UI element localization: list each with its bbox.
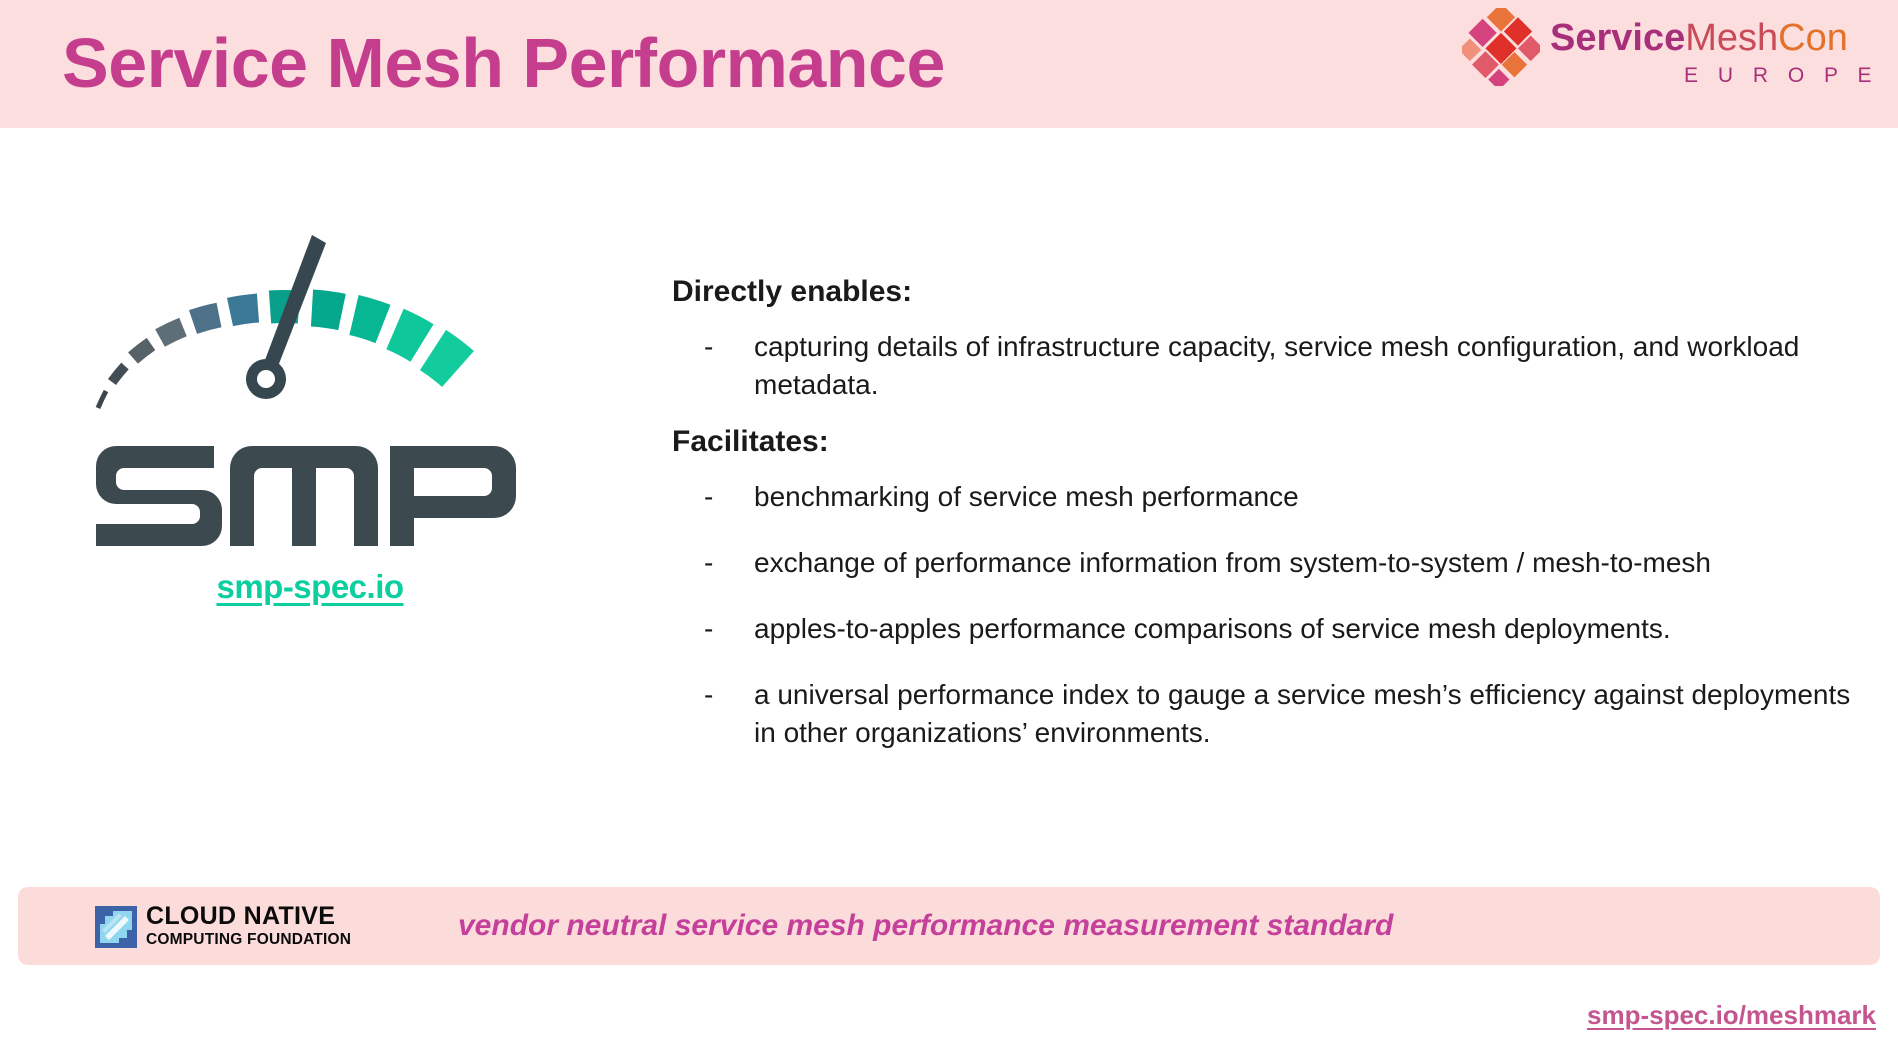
servicemeshcon-region-label: E U R O P E — [1684, 64, 1878, 88]
wordmark-mesh: Mesh — [1685, 17, 1778, 59]
directly-enables-list: - capturing details of infrastructure ca… — [672, 328, 1862, 404]
servicemeshcon-wordmark: ServiceMeshCon — [1550, 14, 1848, 62]
servicemeshcon-logo: ServiceMeshCon E U R O P E — [1462, 6, 1882, 116]
servicemeshcon-diamond-mark — [1462, 8, 1540, 86]
cncf-logo-mark — [95, 906, 137, 948]
cncf-line-2: COMPUTING FOUNDATION — [146, 930, 351, 949]
list-item: - capturing details of infrastructure ca… — [672, 328, 1862, 404]
footer-band: CLOUD NATIVE COMPUTING FOUNDATION vendor… — [18, 887, 1880, 965]
facilitates-list: - benchmarking of service mesh performan… — [672, 478, 1862, 752]
main-content: Directly enables: - capturing details of… — [672, 272, 1862, 780]
list-item: - apples-to-apples performance compariso… — [672, 610, 1862, 648]
wordmark-service: Service — [1550, 17, 1685, 59]
bullet-text: exchange of performance information from… — [754, 544, 1862, 582]
bullet-marker: - — [672, 328, 754, 366]
bullet-text: a universal performance index to gauge a… — [754, 676, 1862, 752]
list-item: - a universal performance index to gauge… — [672, 676, 1862, 752]
page-title: Service Mesh Performance — [62, 8, 945, 118]
list-item: - exchange of performance information fr… — [672, 544, 1862, 582]
meshmark-link[interactable]: smp-spec.io/meshmark — [1587, 1000, 1876, 1031]
bullet-marker: - — [672, 544, 754, 582]
bullet-marker: - — [672, 676, 754, 714]
heading-directly-enables: Directly enables: — [672, 272, 1862, 312]
list-item: - benchmarking of service mesh performan… — [672, 478, 1862, 516]
smp-logo-wordmark — [90, 428, 520, 548]
cncf-logo: CLOUD NATIVE COMPUTING FOUNDATION — [95, 903, 325, 951]
bullet-marker: - — [672, 478, 754, 516]
cncf-line-1: CLOUD NATIVE — [146, 903, 351, 930]
smp-spec-link[interactable]: smp-spec.io — [60, 568, 560, 606]
cncf-wordmark: CLOUD NATIVE COMPUTING FOUNDATION — [146, 903, 351, 949]
smp-branding-column: smp-spec.io — [60, 190, 560, 660]
bullet-marker: - — [672, 610, 754, 648]
heading-facilitates: Facilitates: — [672, 422, 1862, 462]
bullet-text: apples-to-apples performance comparisons… — [754, 610, 1862, 648]
footer-tagline: vendor neutral service mesh performance … — [458, 904, 1393, 948]
wordmark-con: Con — [1778, 17, 1848, 59]
bullet-text: benchmarking of service mesh performance — [754, 478, 1862, 516]
bullet-text: capturing details of infrastructure capa… — [754, 328, 1862, 404]
smp-speedometer-gauge — [80, 190, 540, 420]
